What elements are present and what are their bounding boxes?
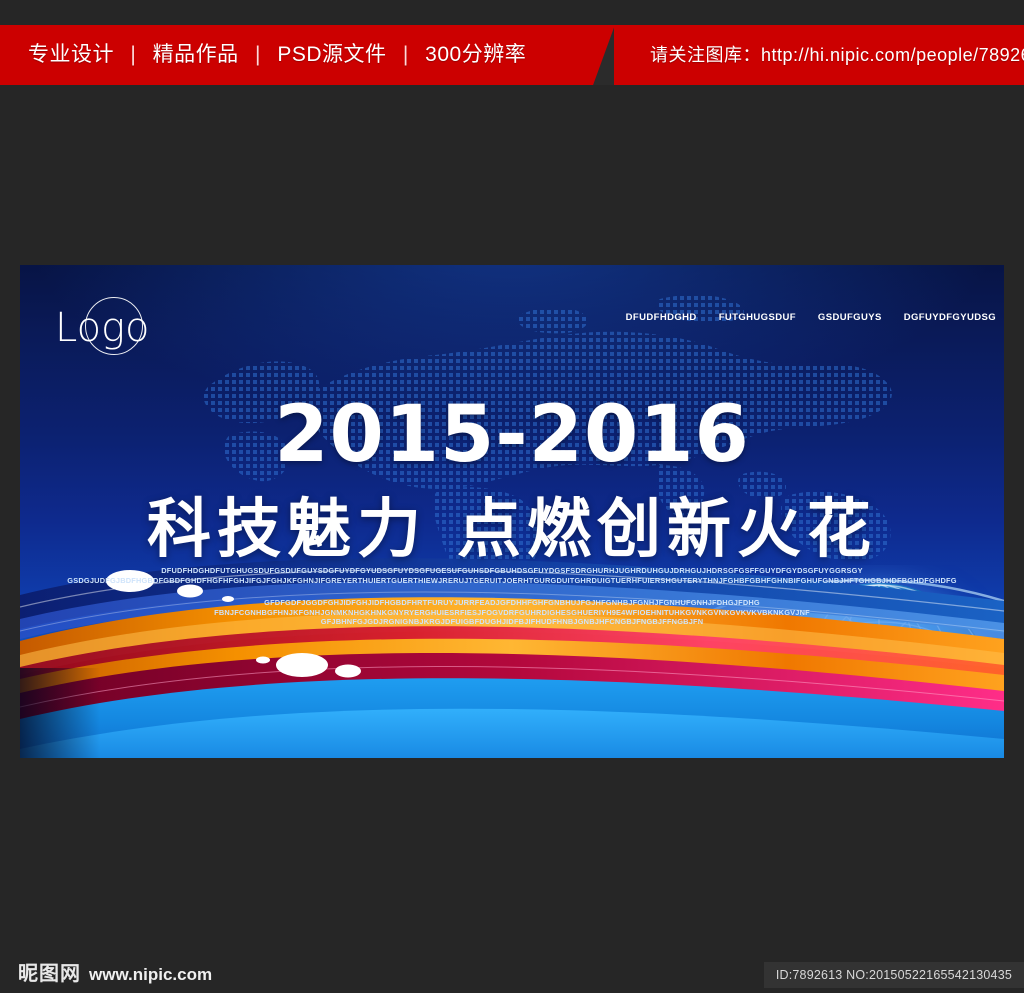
gallery-url[interactable]: http://hi.nipic.com/people/7892613: [761, 45, 1024, 65]
filler-line-a1: GSDGJUDFGJBDFHGBDFGBDFGHDFHGFHFGHJIFGJFG…: [0, 576, 1024, 586]
topnav-item-0[interactable]: DFUDFHDGHD: [626, 312, 697, 323]
topnav-item-2[interactable]: GSDUFGUYS: [818, 312, 882, 323]
promo-banner-right: 请关注图库：http://hi.nipic.com/people/7892613: [614, 25, 1024, 85]
screenshot-root: 专业设计 | 精品作品 | PSD源文件 | 300分辨率 请关注图库：http…: [0, 0, 1024, 993]
promo-banner-features: 专业设计 | 精品作品 | PSD源文件 | 300分辨率: [28, 25, 526, 85]
headline-part-1: 科技魅力: [147, 493, 427, 565]
promo-banner: 专业设计 | 精品作品 | PSD源文件 | 300分辨率 请关注图库：http…: [0, 25, 1024, 85]
ribbon-left-shade: [20, 668, 100, 758]
site-name-cn: 昵图网: [18, 957, 81, 986]
promo-banner-left: 专业设计 | 精品作品 | PSD源文件 | 300分辨率: [0, 25, 614, 85]
logo-label: Logo: [55, 305, 195, 351]
headline-part-2: 点燃创新火花: [457, 493, 877, 565]
poster-headline: 科技魅力点燃创新火花: [0, 478, 1024, 570]
filler-line-b2: GFJBHNFGJGDJRGNIGNBJKRGJDFUIGBFDUGHJIDFB…: [0, 617, 1024, 627]
asset-id-badge: ID:7892613 NO:20150522165542130435: [764, 962, 1024, 988]
filler-line-a0: DFUDFHDGHDFUTGHUGSDUFGSDUFGUYSDGFUYDFGYU…: [0, 566, 1024, 576]
topnav-item-1[interactable]: FUTGHUGSDUF: [719, 312, 796, 323]
promo-feature-3: 300分辨率: [425, 43, 526, 66]
poster-year: 2015-2016: [0, 390, 1024, 480]
promo-separator-1: |: [245, 25, 271, 85]
promo-separator-2: |: [393, 25, 419, 85]
topnav-item-3[interactable]: DGFUYDFGYUDSG: [904, 312, 996, 323]
promo-feature-0: 专业设计: [28, 43, 114, 66]
filler-text-block-b: GFDFGDFJGGDFGHJIDFGHJIDFHGBDFHRTFURUYJUR…: [0, 598, 1024, 627]
filler-line-b0: GFDFGDFJGGDFGHJIDFGHJIDFHGBDFHRTFURUYJUR…: [0, 598, 1024, 608]
poster-logo[interactable]: Logo: [55, 295, 195, 357]
site-url: www.nipic.com: [89, 965, 212, 985]
promo-feature-1: 精品作品: [153, 43, 239, 66]
poster-topnav: DFUDFHDGHD FUTGHUGSDUF GSDUFGUYS DGFUYDF…: [626, 312, 996, 323]
site-watermark: 昵图网 www.nipic.com: [18, 957, 212, 986]
filler-line-b1: FBNJFCGNHBGFHNJKFGNHJGNMKNHGKHNKGNYRYERG…: [0, 608, 1024, 618]
filler-text-block-a: DFUDFHDGHDFUTGHUGSDUFGSDUFGUYSDGFUYDFGYU…: [0, 566, 1024, 585]
promo-feature-2: PSD源文件: [277, 43, 386, 66]
promo-separator-0: |: [120, 25, 146, 85]
gallery-follow-text: 请关注图库：http://hi.nipic.com/people/7892613: [650, 25, 1024, 85]
gallery-follow-label: 请关注图库：: [650, 45, 761, 65]
